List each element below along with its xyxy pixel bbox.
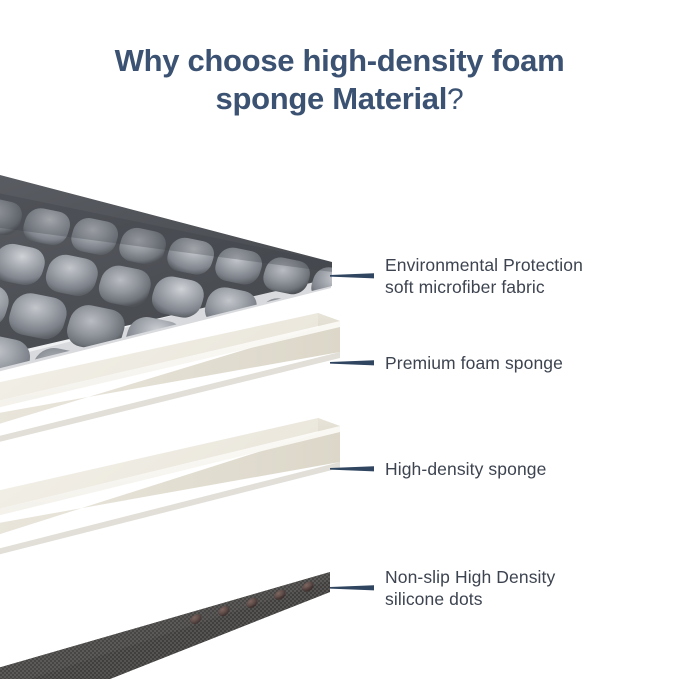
callout-label: Environmental Protection soft microfiber… xyxy=(385,254,583,298)
infographic-page: Why choose high-density foam sponge Mate… xyxy=(0,0,679,679)
leader-line-icon xyxy=(330,359,374,367)
callout-microfiber-fabric: Environmental Protection soft microfiber… xyxy=(330,254,583,298)
silicone-sheen xyxy=(0,572,330,679)
leader-line-icon xyxy=(330,465,374,473)
high-density-sponge-layer xyxy=(0,418,340,610)
callout-label: Premium foam sponge xyxy=(385,352,563,374)
callout-label: Non-slip High Density silicone dots xyxy=(385,566,555,610)
leader-line-icon xyxy=(330,272,374,280)
leader-line-icon xyxy=(330,584,374,592)
callout-label: High-density sponge xyxy=(385,458,546,480)
callout-high-density-sponge: High-density sponge xyxy=(330,458,546,480)
callout-premium-foam-sponge: Premium foam sponge xyxy=(330,352,563,374)
callout-non-slip-silicone-dots: Non-slip High Density silicone dots xyxy=(330,566,555,610)
